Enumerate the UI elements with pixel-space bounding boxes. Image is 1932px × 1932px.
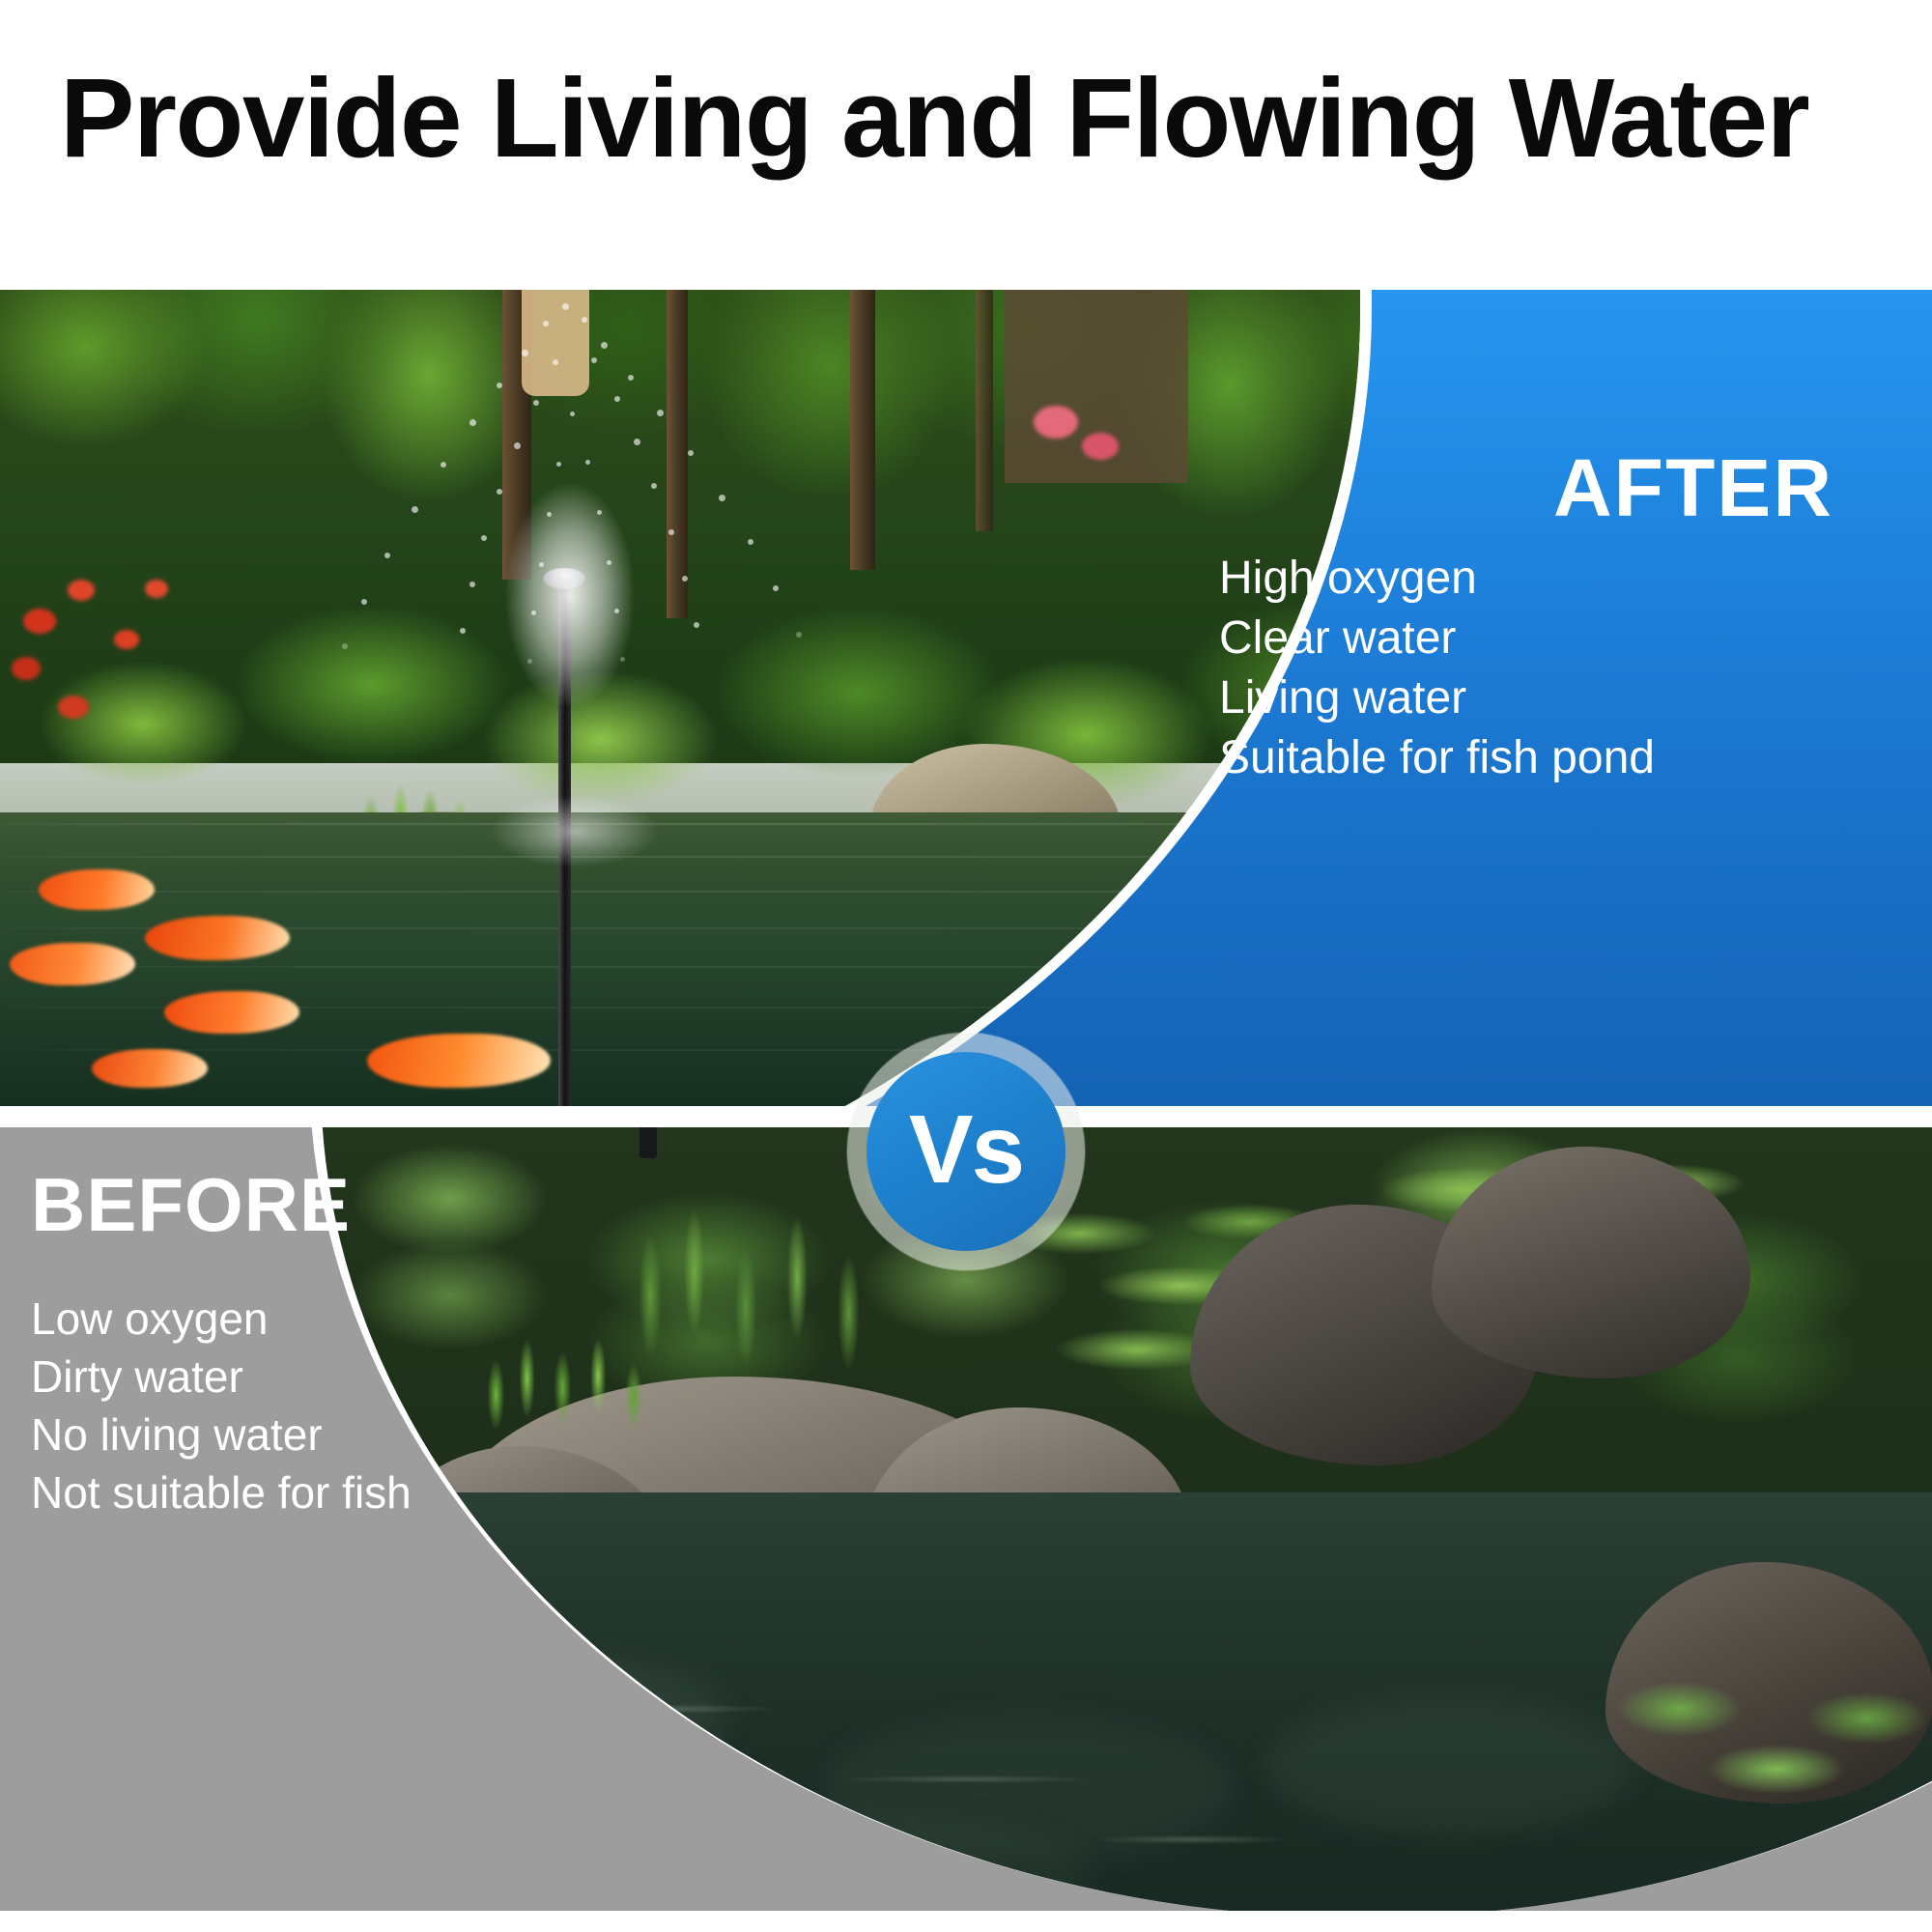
before-item-2: No living water (31, 1406, 572, 1463)
after-item-3: Suitable for fish pond (1198, 728, 1874, 788)
before-item-3: Not suitable for fish (31, 1463, 572, 1521)
infographic-canvas: Provide Living and Flowing Water (0, 0, 1932, 1932)
versus-badge: Vs (847, 1033, 1085, 1270)
after-item-1: Clear water (1198, 609, 1874, 668)
after-heading: AFTER (1198, 444, 1874, 531)
title-bar: Provide Living and Flowing Water (0, 0, 1932, 290)
before-item-0: Low oxygen (31, 1290, 572, 1348)
bottom-edge-strip (0, 1911, 1932, 1932)
page-title: Provide Living and Flowing Water (60, 60, 1876, 176)
after-item-2: Living water (1198, 668, 1874, 728)
before-text-block: BEFORE Low oxygen Dirty water No living … (31, 1164, 572, 1521)
versus-circle: Vs (867, 1052, 1065, 1251)
before-item-1: Dirty water (31, 1348, 572, 1406)
after-text-block: AFTER High oxygen Clear water Living wat… (1198, 444, 1874, 788)
before-heading: BEFORE (31, 1164, 572, 1245)
after-item-0: High oxygen (1198, 549, 1874, 609)
after-section: AFTER High oxygen Clear water Living wat… (0, 290, 1932, 1106)
versus-label: Vs (909, 1101, 1023, 1198)
